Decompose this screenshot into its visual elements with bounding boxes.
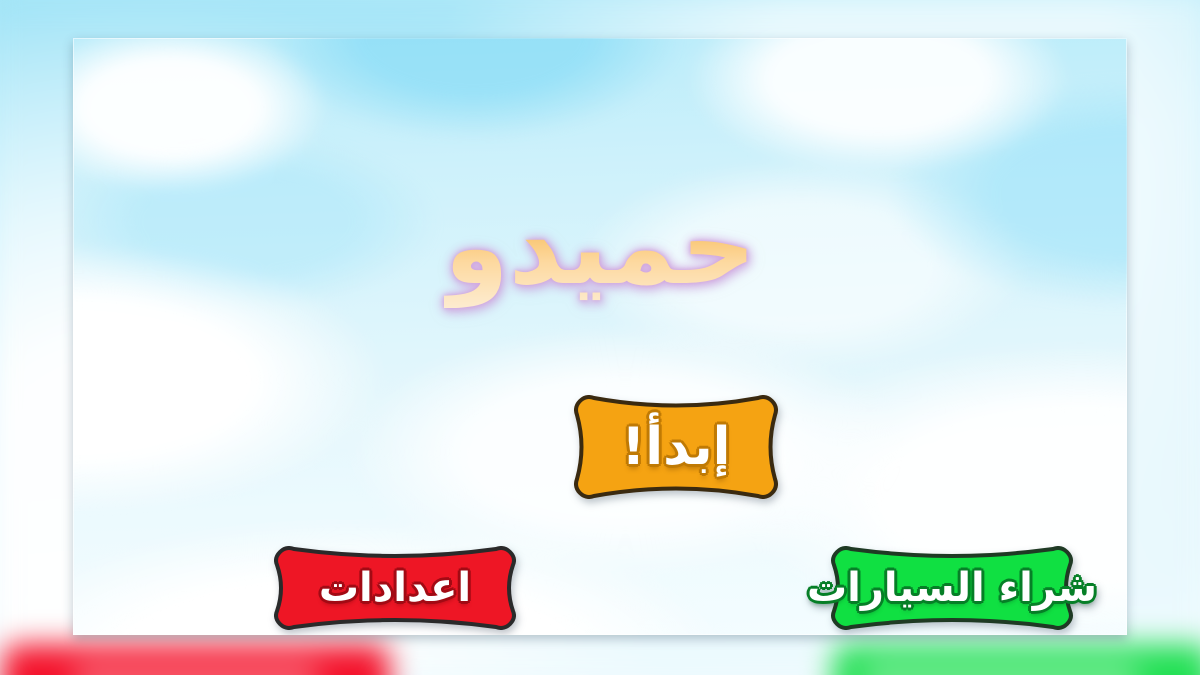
game-canvas: حميدو إبدأ! اعدادات شراء السيارات: [73, 38, 1127, 635]
backdrop-red-block: [2, 644, 390, 675]
buy-cars-button-label: شراء السيارات: [807, 568, 1097, 608]
start-button-label: إبدأ!: [622, 421, 731, 473]
backdrop-green-block: [833, 644, 1200, 675]
game-main-menu-screen: حميدو إبدأ! اعدادات شراء السيارات: [0, 0, 1200, 675]
buy-cars-button[interactable]: شراء السيارات: [819, 543, 1085, 633]
settings-button-label: اعدادات: [319, 568, 471, 608]
start-button[interactable]: إبدأ!: [560, 391, 792, 503]
settings-button[interactable]: اعدادات: [262, 543, 528, 633]
